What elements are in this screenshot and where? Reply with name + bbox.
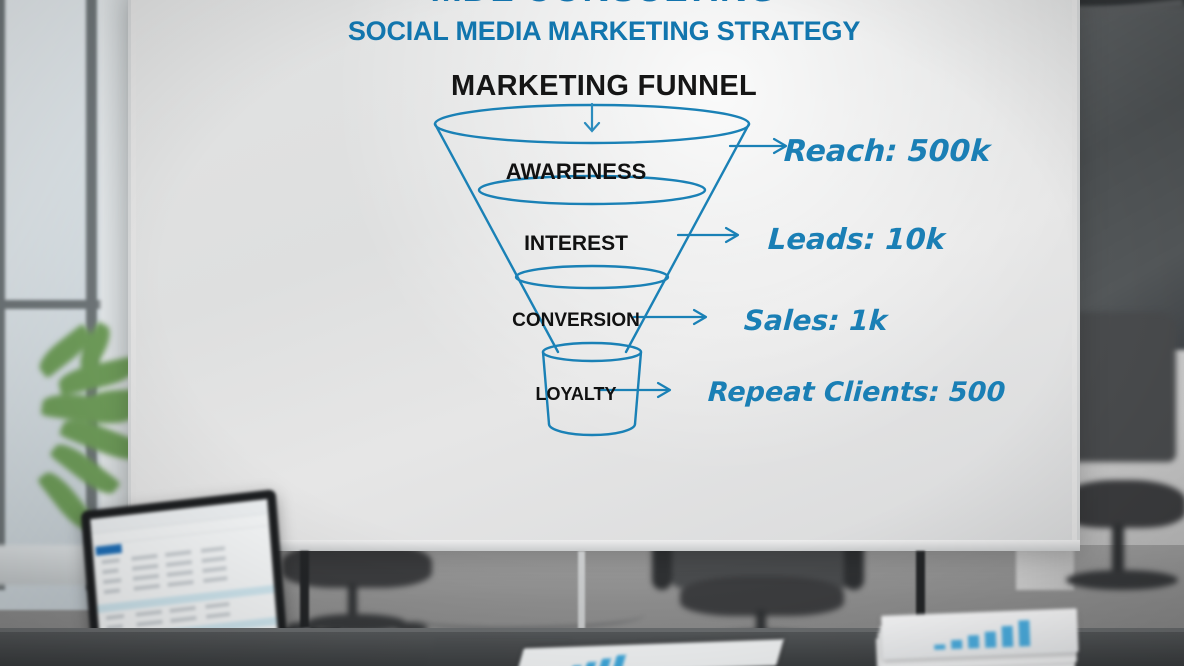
report-stack xyxy=(875,608,1087,666)
funnel-inflow-arrow xyxy=(585,104,599,131)
funnel-stage-label-interest: INTEREST xyxy=(481,232,671,256)
whiteboard-content: MDL CONSULTING SOCIAL MEDIA MARKETING ST… xyxy=(136,0,1072,540)
funnel-ring-2 xyxy=(516,266,668,288)
spreadsheet-active-tab xyxy=(95,544,122,556)
company-title: MDL CONSULTING xyxy=(136,0,1072,11)
whiteboard-center-post xyxy=(578,551,585,629)
funnel-stage-label-conversion: CONVERSION xyxy=(472,310,680,332)
office-whiteboard-scene: MDL CONSULTING SOCIAL MEDIA MARKETING ST… xyxy=(0,0,1184,666)
window-mullion xyxy=(0,0,5,590)
glass-partition xyxy=(1062,0,1184,350)
paper-bar-chart xyxy=(556,655,626,666)
connector-arrow-awareness xyxy=(730,139,786,153)
page-title: MARKETING FUNNEL xyxy=(136,70,1072,103)
funnel-stage-label-awareness: AWARENESS xyxy=(465,159,687,185)
funnel-metric-reach: Reach: 500k xyxy=(783,134,991,169)
report-bar-chart xyxy=(933,620,1030,650)
loyalty-bottom xyxy=(549,424,635,435)
report-top-sheet xyxy=(881,608,1079,659)
funnel-metric-repeat-clients: Repeat Clients: 500 xyxy=(707,377,1006,408)
funnel-stage-label-loyalty: LOYALTY xyxy=(502,384,650,405)
window-mullion xyxy=(0,300,110,309)
funnel-metric-sales: Sales: 1k xyxy=(743,304,888,337)
strategy-subtitle: SOCIAL MEDIA MARKETING STRATEGY xyxy=(136,16,1072,47)
funnel-metric-leads: Leads: 10k xyxy=(767,222,946,256)
